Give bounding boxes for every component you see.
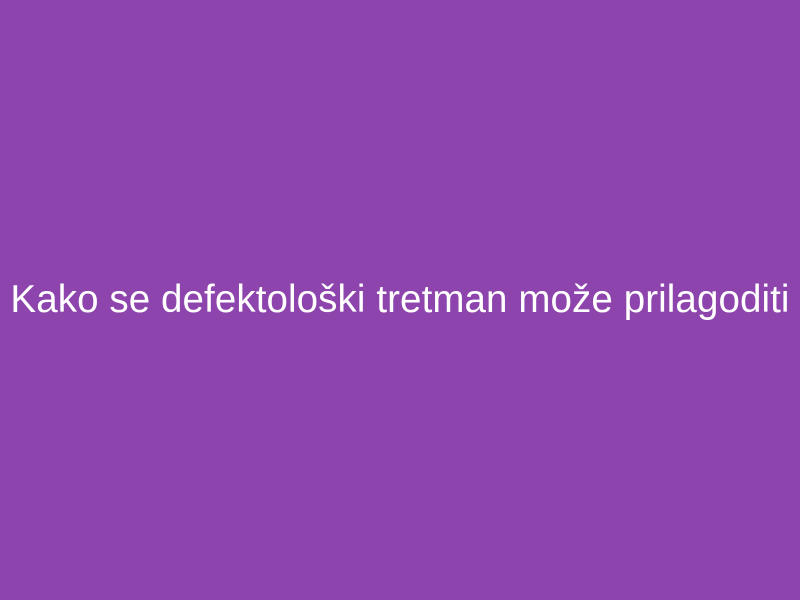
card-title: Kako se defektološki tretman može prilag… bbox=[10, 277, 789, 322]
title-container: Kako se defektološki tretman može prilag… bbox=[20, 277, 780, 322]
title-card: Kako se defektološki tretman može prilag… bbox=[0, 0, 800, 600]
